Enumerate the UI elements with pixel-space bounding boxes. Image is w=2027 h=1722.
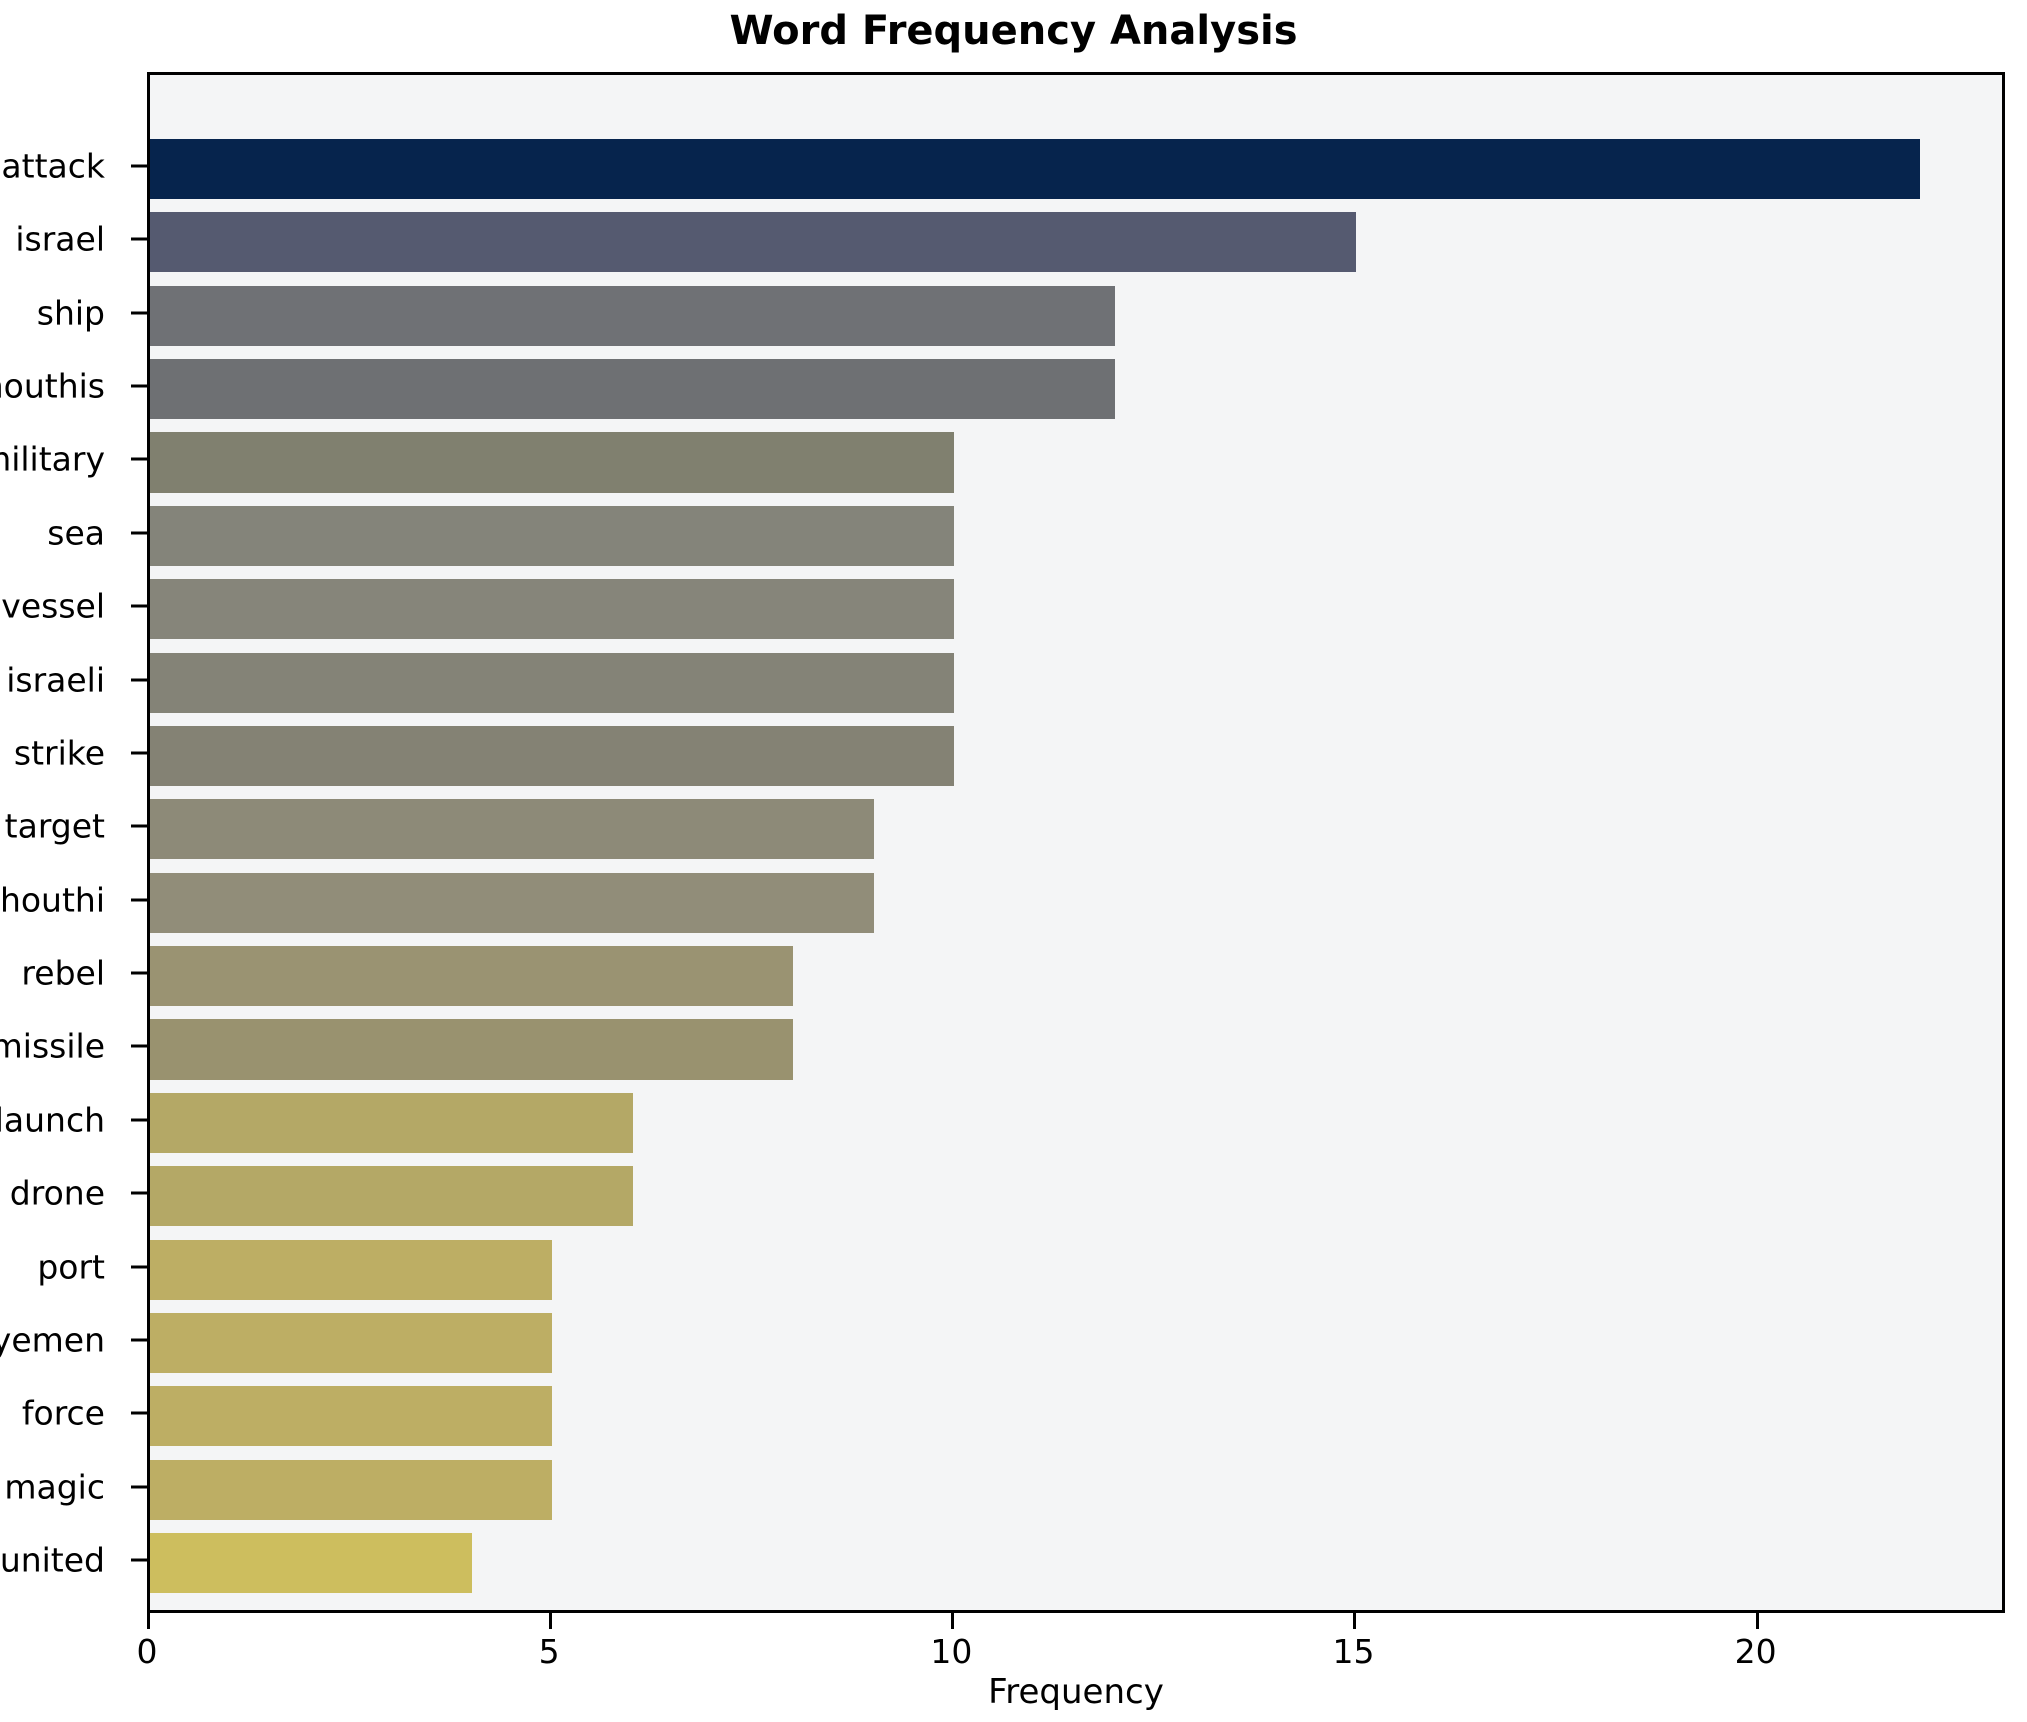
ytick-mark: [131, 164, 147, 167]
bars-layer: [150, 75, 2002, 1610]
bar-united[interactable]: [150, 1533, 472, 1593]
ytick-label-target: target: [5, 810, 105, 843]
xtick-mark: [549, 1613, 552, 1629]
ytick-mark: [131, 898, 147, 901]
bar-row: [150, 212, 2002, 272]
xtick-label-15: 15: [1332, 1635, 1374, 1668]
bar-rebel[interactable]: [150, 946, 793, 1006]
chart-title: Word Frequency Analysis: [0, 8, 2027, 54]
ytick-label-united: united: [0, 1544, 105, 1577]
ytick-label-israel: israel: [15, 223, 105, 256]
ytick-mark: [131, 1339, 147, 1342]
bar-attack[interactable]: [150, 139, 1920, 199]
bar-port[interactable]: [150, 1240, 552, 1300]
bar-row: [150, 1460, 2002, 1520]
xtick-label-10: 10: [930, 1635, 972, 1668]
bar-row: [150, 432, 2002, 492]
ytick-label-houthi: houthi: [0, 883, 105, 916]
bar-row: [150, 506, 2002, 566]
bar-row: [150, 139, 2002, 199]
xtick-label-20: 20: [1735, 1635, 1777, 1668]
xtick-mark: [1353, 1613, 1356, 1629]
bar-launch[interactable]: [150, 1093, 633, 1153]
bar-magic[interactable]: [150, 1460, 552, 1520]
ytick-label-attack: attack: [1, 149, 105, 182]
bar-row: [150, 726, 2002, 786]
ytick-mark: [131, 1192, 147, 1195]
ytick-label-launch: launch: [0, 1103, 105, 1136]
bar-yemen[interactable]: [150, 1313, 552, 1373]
ytick-mark: [131, 1412, 147, 1415]
ytick-label-strike: strike: [14, 736, 105, 769]
bar-row: [150, 1533, 2002, 1593]
bar-row: [150, 1313, 2002, 1373]
bar-houthi[interactable]: [150, 873, 874, 933]
ytick-mark: [131, 678, 147, 681]
bar-israel[interactable]: [150, 212, 1356, 272]
ytick-label-sea: sea: [47, 516, 105, 549]
bar-sea[interactable]: [150, 506, 954, 566]
ytick-mark: [131, 1045, 147, 1048]
ytick-mark: [131, 238, 147, 241]
bar-row: [150, 1019, 2002, 1079]
bar-israeli[interactable]: [150, 653, 954, 713]
bar-row: [150, 1240, 2002, 1300]
y-axis: attackisraelshiphouthismilitaryseavessel…: [0, 72, 147, 1613]
ytick-label-drone: drone: [10, 1177, 105, 1210]
x-axis-title: Frequency: [147, 1672, 2005, 1712]
chart-figure: Word Frequency Analysis attackisraelship…: [0, 0, 2027, 1722]
ytick-label-israeli: israeli: [6, 663, 105, 696]
ytick-label-port: port: [37, 1250, 105, 1283]
ytick-mark: [131, 605, 147, 608]
bar-force[interactable]: [150, 1386, 552, 1446]
bar-row: [150, 799, 2002, 859]
xtick-mark: [951, 1613, 954, 1629]
ytick-mark: [131, 1559, 147, 1562]
bar-row: [150, 1093, 2002, 1153]
bar-row: [150, 1166, 2002, 1226]
bar-row: [150, 653, 2002, 713]
xtick-mark: [147, 1613, 150, 1629]
ytick-mark: [131, 531, 147, 534]
ytick-mark: [131, 458, 147, 461]
xtick-label-5: 5: [539, 1635, 560, 1668]
bar-ship[interactable]: [150, 286, 1115, 346]
bar-missile[interactable]: [150, 1019, 793, 1079]
ytick-mark: [131, 972, 147, 975]
bar-strike[interactable]: [150, 726, 954, 786]
plot-area: [147, 72, 2005, 1613]
ytick-mark: [131, 1265, 147, 1268]
bar-military[interactable]: [150, 432, 954, 492]
ytick-label-ship: ship: [37, 296, 105, 329]
bar-houthis[interactable]: [150, 359, 1115, 419]
xtick-label-0: 0: [137, 1635, 158, 1668]
bar-target[interactable]: [150, 799, 874, 859]
ytick-label-force: force: [22, 1397, 105, 1430]
ytick-mark: [131, 825, 147, 828]
bar-row: [150, 359, 2002, 419]
ytick-label-missile: missile: [0, 1030, 105, 1063]
bar-vessel[interactable]: [150, 579, 954, 639]
ytick-label-military: military: [0, 443, 105, 476]
ytick-mark: [131, 1118, 147, 1121]
ytick-label-vessel: vessel: [1, 590, 105, 623]
ytick-label-rebel: rebel: [21, 957, 105, 990]
bar-row: [150, 1386, 2002, 1446]
ytick-label-houthis: houthis: [0, 370, 105, 403]
ytick-mark: [131, 385, 147, 388]
bar-row: [150, 286, 2002, 346]
bar-row: [150, 946, 2002, 1006]
ytick-mark: [131, 311, 147, 314]
xtick-mark: [1756, 1613, 1759, 1629]
ytick-mark: [131, 1485, 147, 1488]
bar-drone[interactable]: [150, 1166, 633, 1226]
ytick-label-magic: magic: [4, 1470, 105, 1503]
bar-row: [150, 579, 2002, 639]
bar-row: [150, 873, 2002, 933]
ytick-mark: [131, 751, 147, 754]
ytick-label-yemen: yemen: [0, 1324, 105, 1357]
